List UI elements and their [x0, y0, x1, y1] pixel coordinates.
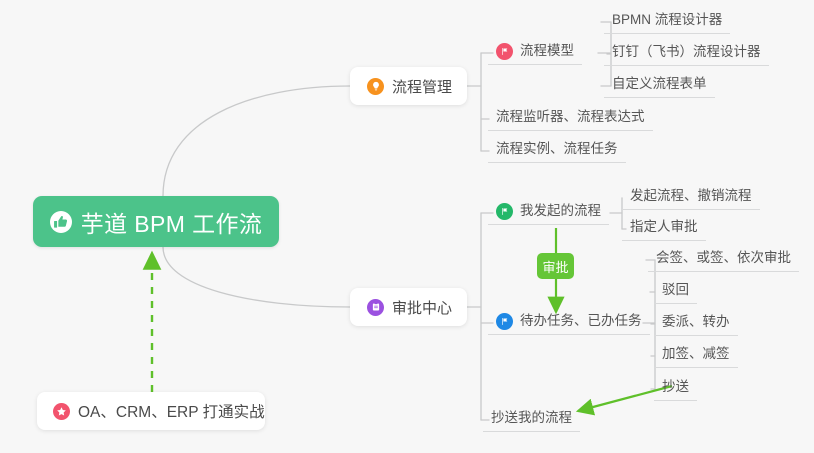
node-cc-to-me-process[interactable]: 抄送我的流程 — [483, 408, 580, 432]
node-label-cc-to-me-process: 抄送我的流程 — [491, 411, 572, 425]
flag-icon — [496, 313, 513, 330]
star-icon — [53, 403, 70, 420]
approval-badge-label: 审批 — [542, 257, 568, 276]
lightbulb-icon — [367, 78, 384, 95]
node-start-cancel-process[interactable]: 发起流程、撤销流程 — [622, 186, 760, 210]
node-custom-process-form[interactable]: 自定义流程表单 — [604, 74, 715, 98]
approval-badge[interactable]: 审批 — [537, 253, 574, 279]
node-process-model[interactable]: 流程模型 — [488, 41, 582, 65]
node-countersign-orsign-sequential[interactable]: 会签、或签、依次审批 — [648, 248, 799, 272]
node-reject[interactable]: 驳回 — [654, 280, 697, 304]
node-delegate-transfer[interactable]: 委派、转办 — [654, 312, 738, 336]
node-todo-done-tasks[interactable]: 待办任务、已办任务 — [488, 311, 650, 335]
node-label-reject: 驳回 — [662, 283, 689, 297]
node-bpmn-designer[interactable]: BPMN 流程设计器 — [604, 10, 730, 34]
node-label-cc: 抄送 — [662, 380, 689, 394]
flag-icon — [496, 203, 513, 220]
node-label-process-listener-expression: 流程监听器、流程表达式 — [496, 110, 645, 124]
node-dingtalk-feishu-designer[interactable]: 钉钉（飞书）流程设计器 — [604, 42, 769, 66]
branch-label-process-management: 流程管理 — [392, 76, 452, 97]
node-label-todo-done-tasks: 待办任务、已办任务 — [520, 314, 642, 328]
node-label-delegate-transfer: 委派、转办 — [662, 315, 730, 329]
root-node[interactable]: 芋道 BPM 工作流 — [33, 196, 279, 247]
thumbs-up-icon — [50, 211, 72, 233]
node-cc[interactable]: 抄送 — [654, 377, 697, 401]
node-label-dingtalk-feishu-designer: 钉钉（飞书）流程设计器 — [612, 45, 761, 59]
node-process-listener-expression[interactable]: 流程监听器、流程表达式 — [488, 107, 653, 131]
node-my-initiated-process[interactable]: 我发起的流程 — [488, 201, 609, 225]
branch-node-approval-center[interactable]: 审批中心 — [350, 288, 467, 326]
node-label-start-cancel-process: 发起流程、撤销流程 — [630, 189, 752, 203]
node-label-bpmn-designer: BPMN 流程设计器 — [612, 13, 722, 27]
clipboard-icon — [367, 299, 384, 316]
flag-icon — [496, 43, 513, 60]
node-process-instance-task[interactable]: 流程实例、流程任务 — [488, 139, 626, 163]
node-label-countersign-orsign-sequential: 会签、或签、依次审批 — [656, 251, 791, 265]
node-add-remove-sign[interactable]: 加签、减签 — [654, 344, 738, 368]
node-label-custom-process-form: 自定义流程表单 — [612, 77, 707, 91]
node-label-my-initiated-process: 我发起的流程 — [520, 204, 601, 218]
node-assignee-approval[interactable]: 指定人审批 — [622, 217, 706, 241]
node-label-process-model: 流程模型 — [520, 44, 574, 58]
node-label-assignee-approval: 指定人审批 — [630, 220, 698, 234]
floating-node-integration-practice[interactable]: OA、CRM、ERP 打通实战 — [37, 392, 265, 430]
branch-node-process-management[interactable]: 流程管理 — [350, 67, 467, 105]
root-label: 芋道 BPM 工作流 — [81, 205, 263, 239]
branch-label-approval-center: 审批中心 — [392, 297, 452, 318]
floating-node-label-integration-practice: OA、CRM、ERP 打通实战 — [78, 400, 265, 422]
mindmap-canvas: 芋道 BPM 工作流 流程管理 流程模型 BPMN 流程设计器 钉钉（飞书）流程… — [0, 0, 814, 453]
node-label-add-remove-sign: 加签、减签 — [662, 347, 730, 361]
node-label-process-instance-task: 流程实例、流程任务 — [496, 142, 618, 156]
